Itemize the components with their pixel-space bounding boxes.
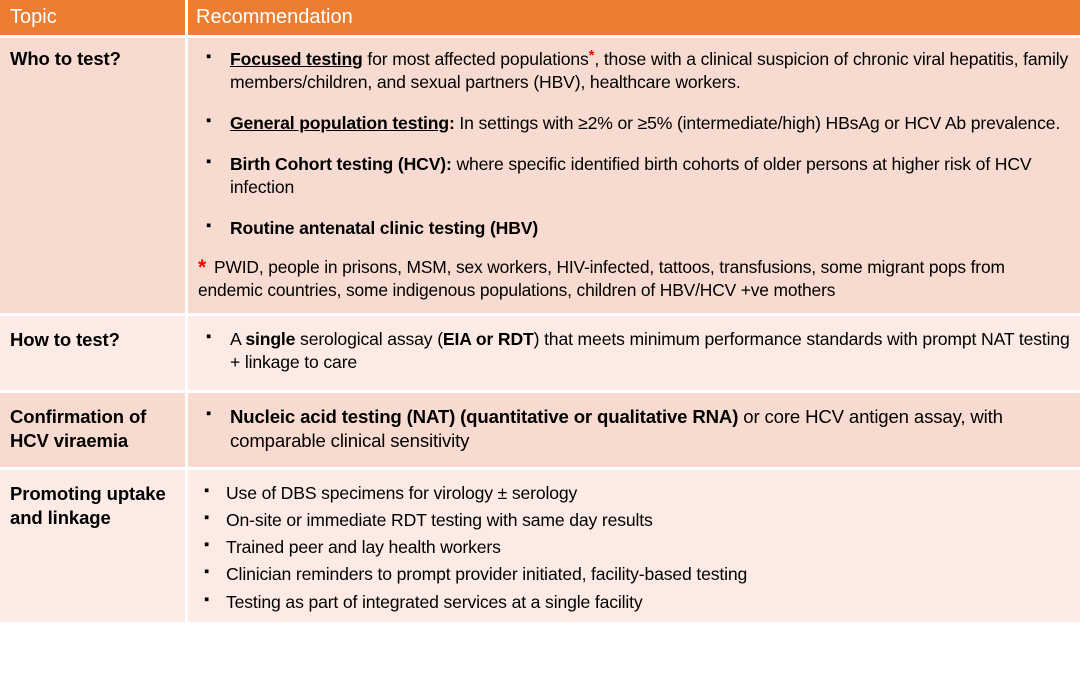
bullet-rest: In settings with ≥2% or ≥5% (intermediat… bbox=[455, 113, 1060, 133]
table-row: Confirmation of HCV viraemia Nucleic aci… bbox=[0, 393, 1080, 471]
bullet-seg1: A bbox=[230, 329, 245, 349]
topic-cell-how-to-test: How to test? bbox=[0, 316, 188, 393]
bullet-lead: Routine antenatal clinic testing (HBV) bbox=[230, 218, 538, 238]
bullet-bold1: single bbox=[245, 329, 295, 349]
list-item: Nucleic acid testing (NAT) (quantitative… bbox=[196, 405, 1070, 454]
bullet-lead: General population testing bbox=[230, 113, 449, 133]
table-row: Promoting uptake and linkage Use of DBS … bbox=[0, 470, 1080, 621]
header-cell-topic: Topic bbox=[0, 0, 188, 38]
table-row: How to test? A single serological assay … bbox=[0, 316, 1080, 393]
bullet-list: Focused testing for most affected popula… bbox=[196, 48, 1070, 240]
list-item: Trained peer and lay health workers bbox=[196, 536, 1070, 559]
bullet-list: Use of DBS specimens for virology ± sero… bbox=[196, 482, 1070, 613]
list-item: Focused testing for most affected popula… bbox=[196, 48, 1070, 94]
header-cell-recommendation: Recommendation bbox=[188, 0, 1080, 38]
recommendation-cell-confirmation-hcv-viraemia: Nucleic acid testing (NAT) (quantitative… bbox=[188, 393, 1080, 471]
asterisk-footnote-icon: * bbox=[198, 256, 214, 279]
footnote: *PWID, people in prisons, MSM, sex worke… bbox=[196, 256, 1070, 302]
bullet-lead: Focused testing bbox=[230, 49, 363, 69]
bullet-lead: Birth Cohort testing (HCV): bbox=[230, 154, 452, 174]
recommendations-table: Topic Recommendation Who to test? Focuse… bbox=[0, 0, 1080, 687]
table-row: Who to test? Focused testing for most af… bbox=[0, 38, 1080, 316]
bullet-list: A single serological assay (EIA or RDT) … bbox=[196, 328, 1070, 374]
topic-label: Promoting uptake and linkage bbox=[10, 482, 177, 530]
recommendation-cell-promoting-uptake-linkage: Use of DBS specimens for virology ± sero… bbox=[188, 470, 1080, 621]
bullet-seg2: serological assay ( bbox=[295, 329, 443, 349]
topic-label: How to test? bbox=[10, 328, 177, 352]
list-item: Testing as part of integrated services a… bbox=[196, 591, 1070, 614]
table-header-row: Topic Recommendation bbox=[0, 0, 1080, 38]
topic-label: Confirmation of HCV viraemia bbox=[10, 405, 177, 453]
footnote-text: PWID, people in prisons, MSM, sex worker… bbox=[198, 257, 1005, 300]
list-item: Use of DBS specimens for virology ± sero… bbox=[196, 482, 1070, 505]
list-item: Birth Cohort testing (HCV): where specif… bbox=[196, 153, 1070, 199]
bullet-bold2: EIA or RDT bbox=[443, 329, 534, 349]
bullet-bold1: Nucleic acid testing (NAT) (quantitative… bbox=[230, 406, 738, 427]
bullet-list: Nucleic acid testing (NAT) (quantitative… bbox=[196, 405, 1070, 454]
header-topic-label: Topic bbox=[10, 6, 57, 28]
header-recommendation-label: Recommendation bbox=[196, 6, 353, 28]
topic-cell-promoting-uptake-linkage: Promoting uptake and linkage bbox=[0, 470, 188, 621]
recommendation-cell-who-to-test: Focused testing for most affected popula… bbox=[188, 38, 1080, 316]
list-item: On-site or immediate RDT testing with sa… bbox=[196, 509, 1070, 532]
recommendation-cell-how-to-test: A single serological assay (EIA or RDT) … bbox=[188, 316, 1080, 393]
list-item: A single serological assay (EIA or RDT) … bbox=[196, 328, 1070, 374]
list-item: Routine antenatal clinic testing (HBV) bbox=[196, 217, 1070, 240]
list-item: Clinician reminders to prompt provider i… bbox=[196, 563, 1070, 586]
topic-cell-confirmation-hcv-viraemia: Confirmation of HCV viraemia bbox=[0, 393, 188, 471]
list-item: General population testing: In settings … bbox=[196, 112, 1070, 135]
bullet-rest: for most affected populations bbox=[363, 49, 589, 69]
topic-cell-who-to-test: Who to test? bbox=[0, 38, 188, 316]
topic-label: Who to test? bbox=[10, 47, 177, 71]
